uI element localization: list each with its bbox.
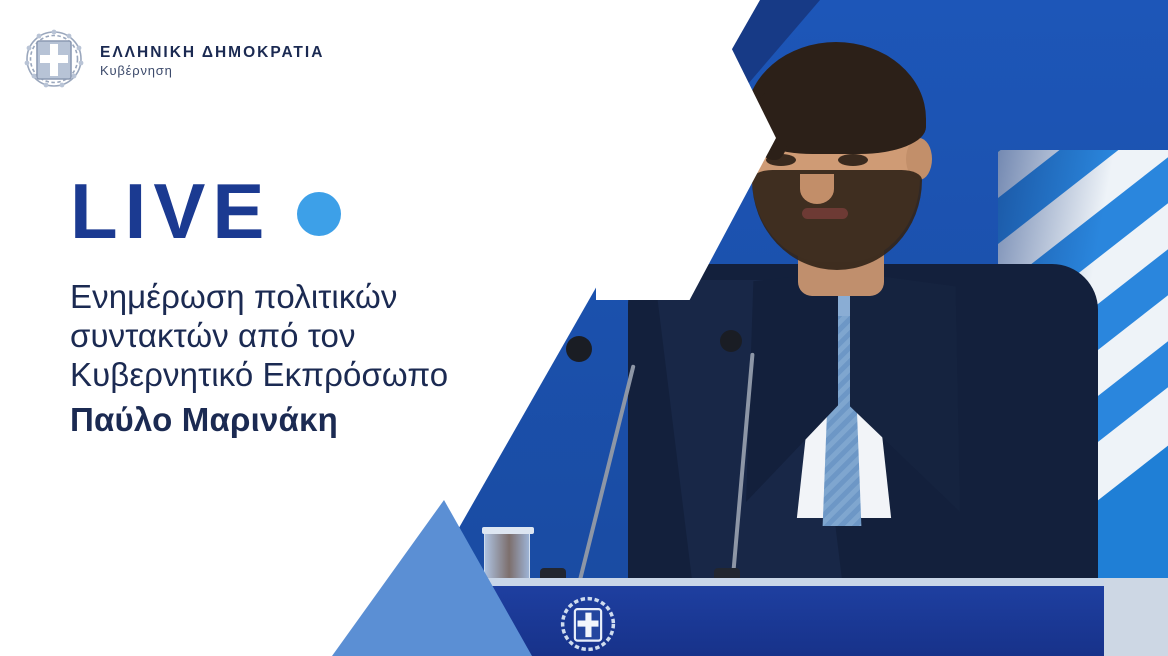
speaker-name: Παύλο Μαρινάκη (70, 401, 540, 440)
headline-line-1: Ενημέρωση πολιτικών (70, 278, 398, 315)
headline-line-2: συντακτών από τον (70, 317, 356, 354)
page-title: Ενημέρωση πολιτικών συντακτών από τον Κυ… (70, 278, 540, 440)
live-dot-icon (297, 192, 341, 236)
brand-line-2: Κυβέρνηση (100, 63, 324, 78)
headline-line-3: Κυβερνητικό Εκπρόσωπο (70, 356, 448, 393)
live-broadcast-thumbnail: ΕΛΛΗΝΙΚΗ ΔΗΜΟΚΡΑΤΙΑ Κυβέρνηση LIVE Ενημέ… (0, 0, 1168, 656)
beard (752, 170, 922, 270)
eye-right (838, 154, 868, 166)
greek-coat-of-arms-icon (560, 596, 616, 652)
nose (800, 174, 834, 204)
podium-side-panel (1104, 578, 1168, 656)
live-badge: LIVE (70, 176, 341, 246)
mouth (802, 208, 848, 219)
brand-line-1: ΕΛΛΗΝΙΚΗ ΔΗΜΟΚΡΑΤΙΑ (100, 44, 324, 62)
greek-coat-of-arms-icon (22, 26, 86, 96)
government-brand-lockup: ΕΛΛΗΝΙΚΗ ΔΗΜΟΚΡΑΤΙΑ Κυβέρνηση (22, 26, 324, 96)
gooseneck-microphone-icon (686, 326, 796, 588)
live-label: LIVE (70, 176, 271, 246)
